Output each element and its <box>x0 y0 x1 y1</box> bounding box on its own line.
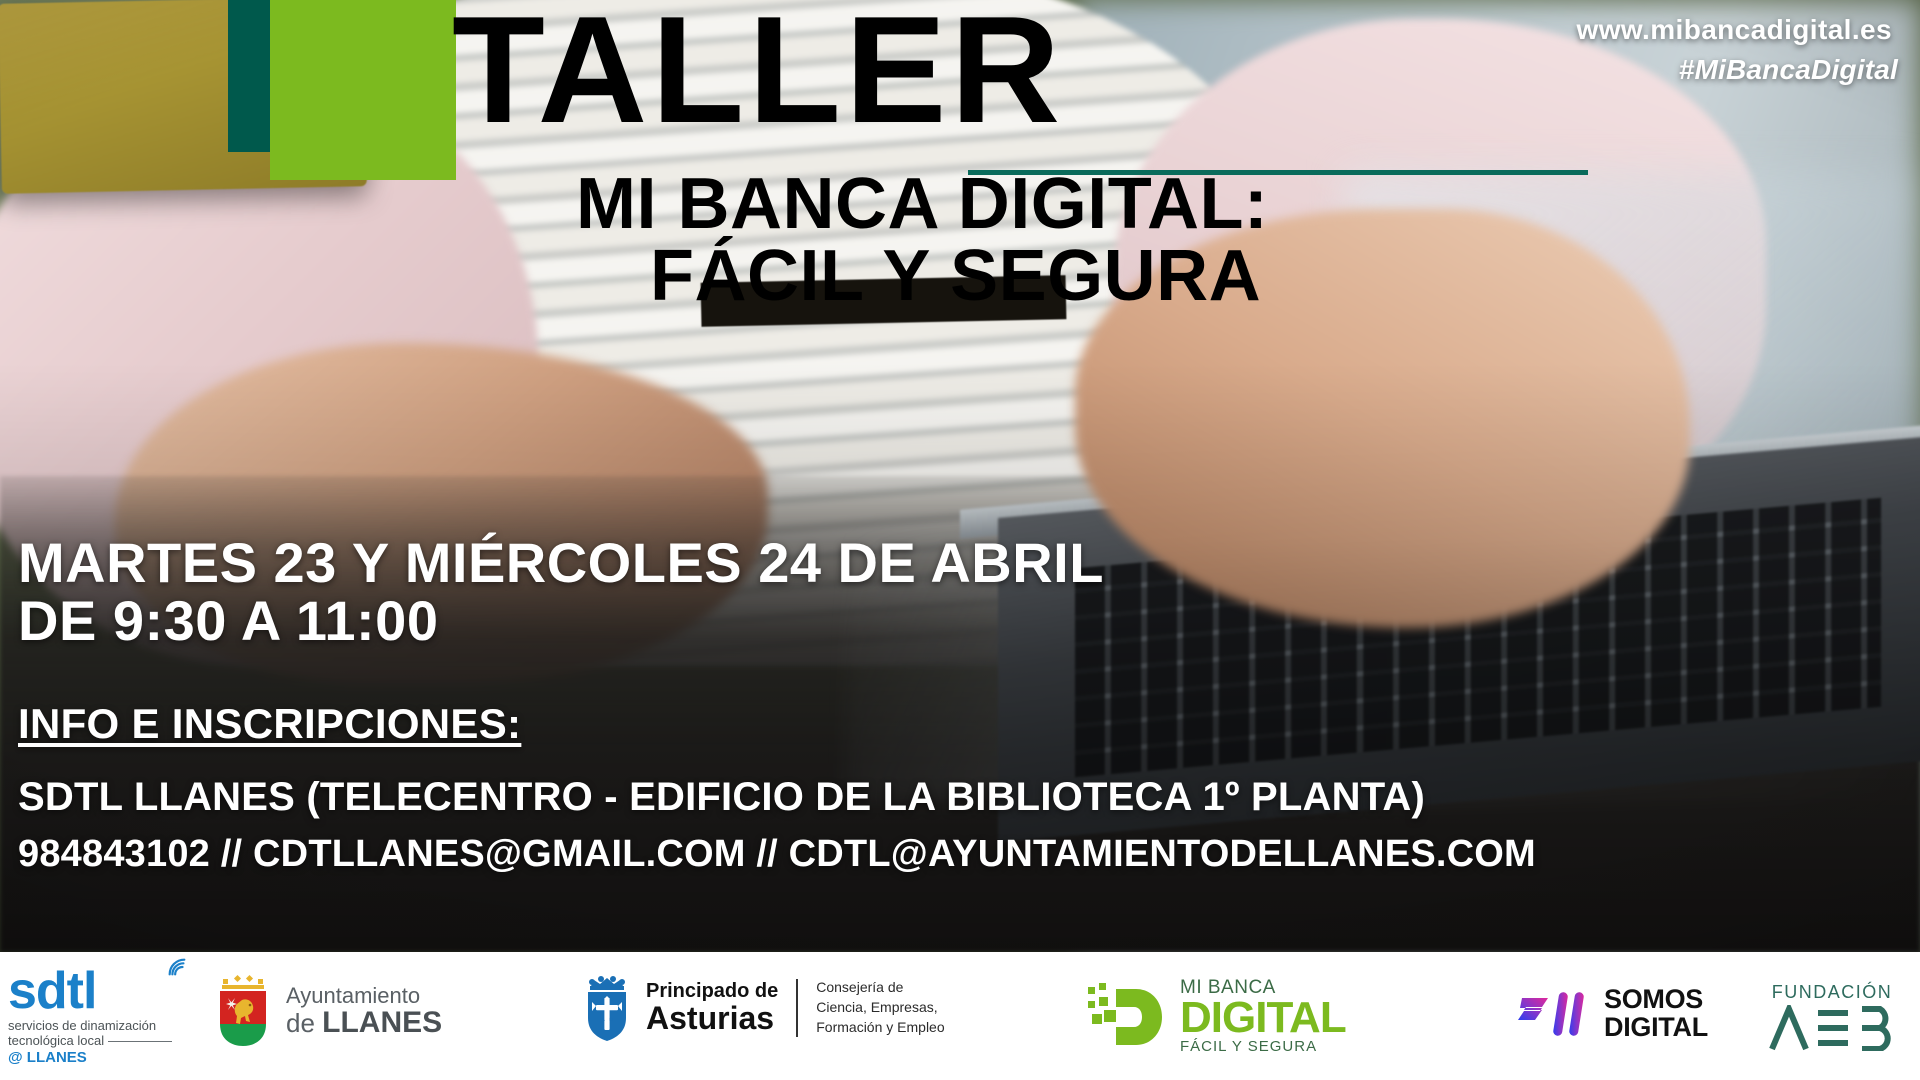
asturias-line2: Asturias <box>646 1002 778 1036</box>
info-label: INFO E INSCRIPCIONES: <box>18 700 521 748</box>
title-line-1: MI BANCA DIGITAL: <box>576 168 1268 241</box>
consejeria-line2: Ciencia, Empresas, <box>816 998 944 1018</box>
ayuntamiento-de: de <box>286 1008 322 1038</box>
event-date: MARTES 23 Y MIÉRCOLES 24 DE ABRIL <box>18 530 1104 595</box>
contact-line: 984843102 // CDTLLANES@GMAIL.COM // CDTL… <box>18 833 1536 876</box>
title-line-2: FÁCIL Y SEGURA <box>650 240 1261 313</box>
aeb-line1: FUNDACIÓN <box>1772 982 1893 1003</box>
sdtl-subtitle-line1: servicios de dinamización <box>8 1018 156 1033</box>
mi-banca-digital-text: MI BANCA DIGITAL FÁCIL Y SEGURA <box>1180 978 1346 1055</box>
somos-line2: DIGITAL <box>1604 1014 1708 1042</box>
asturias-coat-of-arms-icon: A Ω <box>582 974 632 1042</box>
mi-banca-digital-pixel-d-icon <box>1086 981 1174 1053</box>
consejeria-line3: Formación y Empleo <box>816 1018 944 1038</box>
ayuntamiento-line2: de LLANES <box>286 1007 442 1039</box>
event-time: DE 9:30 A 11:00 <box>18 588 438 653</box>
logo-principado-asturias: A Ω Principado de Asturias Consejería de… <box>582 974 945 1042</box>
wifi-signal-icon <box>166 956 188 978</box>
somos-line1: SOMOS <box>1604 986 1708 1014</box>
hashtag: #MiBancaDigital <box>1679 54 1898 86</box>
sdtl-divider-rule <box>108 1041 172 1042</box>
sdtl-subtitle: servicios de dinamización tecnológica lo… <box>8 1018 172 1049</box>
kicker-taller: TALLER <box>452 0 1064 146</box>
asturias-divider <box>796 979 798 1037</box>
poster-canvas: www.mibancadigital.es #MiBancaDigital TA… <box>0 0 1920 1080</box>
footer-logo-bar: sdtl servicios de dinamización tecnológi… <box>0 952 1920 1080</box>
somos-digital-text: SOMOS DIGITAL <box>1604 986 1708 1041</box>
svg-text:A: A <box>601 1018 605 1023</box>
sdtl-locality: @ LLANES <box>8 1049 87 1066</box>
mbd-line2: DIGITAL <box>1180 997 1346 1039</box>
svg-text:Ω: Ω <box>609 1018 613 1023</box>
ayuntamiento-text: Ayuntamiento de LLANES <box>286 984 442 1039</box>
logo-mi-banca-digital: MI BANCA DIGITAL FÁCIL Y SEGURA <box>1086 978 1346 1055</box>
ayuntamiento-line1: Ayuntamiento <box>286 984 442 1007</box>
sdtl-wordmark: sdtl <box>8 968 96 1015</box>
somos-digital-mark-icon <box>1516 988 1592 1040</box>
logo-fundacion-aeb: FUNDACIÓN <box>1768 982 1896 1051</box>
llanes-coat-of-arms-icon <box>214 974 272 1048</box>
venue-address: SDTL LLANES (TELECENTRO - EDIFICIO DE LA… <box>18 775 1425 820</box>
asturias-text: Principado de Asturias <box>646 980 778 1036</box>
decorative-lime-block <box>270 0 456 180</box>
sdtl-subtitle-line2: tecnológica local <box>8 1033 104 1048</box>
aeb-monogram-icon <box>1768 1005 1896 1051</box>
website-url: www.mibancadigital.es <box>1577 14 1892 46</box>
consejeria-line1: Consejería de <box>816 978 944 998</box>
ayuntamiento-name: LLANES <box>322 1006 442 1039</box>
consejeria-text: Consejería de Ciencia, Empresas, Formaci… <box>816 978 944 1038</box>
logo-somos-digital: SOMOS DIGITAL <box>1516 986 1708 1041</box>
logo-ayuntamiento-llanes: Ayuntamiento de LLANES <box>214 974 442 1048</box>
logo-sdtl: sdtl servicios de dinamización tecnológi… <box>8 968 172 1066</box>
asturias-line1: Principado de <box>646 980 778 1002</box>
